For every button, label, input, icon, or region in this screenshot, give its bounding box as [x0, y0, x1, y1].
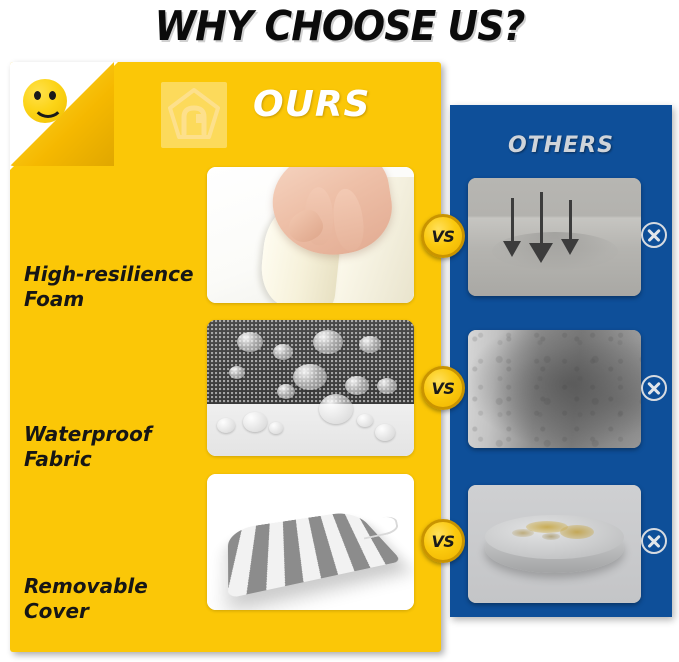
feature-label-line1: High-resilience: [24, 262, 204, 287]
page-title: WHY CHOOSE US?: [27, 0, 652, 50]
water-droplet: [313, 330, 343, 354]
water-droplet: [357, 414, 373, 427]
down-arrow-icon: [569, 200, 572, 240]
vs-badge-3: VS: [421, 519, 465, 563]
water-droplet: [237, 332, 263, 352]
arrow-head: [529, 243, 553, 263]
stain-mark: [560, 525, 594, 539]
feature-label-line1: Waterproof: [24, 422, 204, 447]
feature-label-line2: Foam: [24, 287, 204, 312]
wet-absorbent-fabric-photo: [468, 330, 641, 448]
ours-label: OURS: [253, 84, 370, 125]
foam-sinking-arrows-photo: [468, 178, 641, 296]
feature-label-waterproof-fabric: Waterproof Fabric: [24, 422, 204, 472]
down-arrow-icon: [540, 192, 543, 244]
ours-header: OURS: [153, 76, 433, 154]
down-arrow-icon: [511, 198, 514, 242]
cross-circle-icon: [641, 528, 667, 554]
striped-cushion-removable-cover-photo: [207, 474, 414, 610]
feature-label-removable-cover: Removable Cover: [24, 574, 204, 624]
stain-mark: [542, 533, 560, 540]
water-droplet: [217, 418, 235, 433]
arrow-head: [561, 239, 579, 255]
water-droplet: [243, 412, 267, 432]
water-beading-fabric-photo: [207, 320, 414, 456]
vs-badge-1: VS: [421, 214, 465, 258]
water-droplet: [293, 364, 327, 390]
smiley-mouth: [32, 96, 64, 118]
water-droplet: [229, 366, 245, 379]
water-droplet: [269, 422, 283, 434]
water-droplet: [319, 394, 353, 424]
hand-bending-foam-photo: [207, 167, 414, 303]
finger: [330, 187, 366, 252]
home-pentagon-icon: [161, 82, 227, 148]
cross-circle-icon: [641, 222, 667, 248]
water-droplet: [277, 384, 295, 399]
ours-panel: OURS High-resilience Foam Waterproof Fab…: [10, 62, 441, 652]
others-label: OTHERS: [450, 133, 672, 158]
feature-label-line1: Removable: [24, 574, 204, 599]
feature-label-high-resilience-foam: High-resilience Foam: [24, 262, 204, 312]
water-droplet: [273, 344, 293, 360]
water-droplet: [345, 376, 369, 395]
feature-label-line2: Cover: [24, 599, 204, 624]
cross-circle-icon: [641, 375, 667, 401]
water-droplet: [359, 336, 381, 353]
water-droplet: [375, 424, 395, 441]
stain-mark: [512, 529, 534, 537]
fabric-texture: [468, 330, 641, 448]
stained-round-cushion-photo: [468, 485, 641, 603]
water-droplet: [377, 378, 397, 394]
arrow-head: [503, 241, 521, 257]
vs-badge-2: VS: [421, 366, 465, 410]
feature-label-line2: Fabric: [24, 447, 204, 472]
smiley-face-icon: [23, 79, 67, 123]
others-panel: OTHERS: [450, 105, 672, 617]
